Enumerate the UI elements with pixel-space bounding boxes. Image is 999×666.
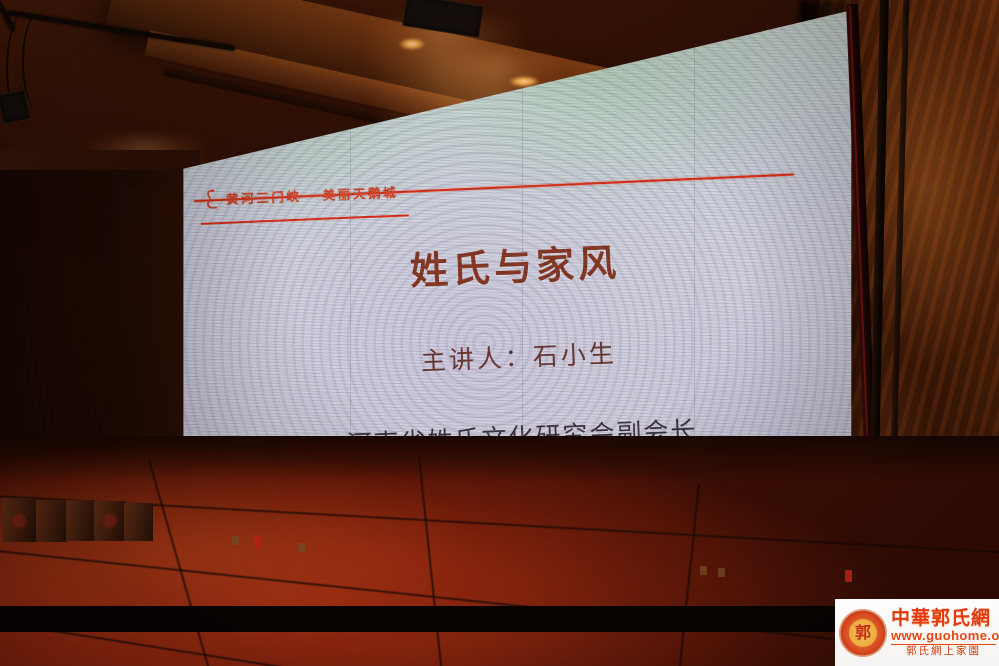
seal-character: 郭 bbox=[849, 619, 877, 647]
box-seal-mark bbox=[103, 514, 117, 528]
downlight-icon bbox=[399, 38, 425, 50]
box-seal-mark bbox=[12, 514, 26, 528]
stacked-box bbox=[36, 500, 67, 542]
watermark-text-block: 中華郭氏網 www.guohome.org 郭氏網上家園 bbox=[891, 609, 996, 656]
floor-seam bbox=[667, 484, 700, 666]
watermark-url: www.guohome.org bbox=[891, 629, 996, 643]
stacked-box bbox=[94, 501, 125, 541]
stacked-box bbox=[66, 500, 95, 541]
round-seal-icon: 郭 bbox=[839, 609, 887, 657]
stacked-box bbox=[124, 503, 153, 541]
stacked-box bbox=[2, 498, 37, 542]
stage-marker bbox=[298, 543, 305, 552]
downlight-icon bbox=[509, 76, 539, 87]
stage-marker bbox=[700, 566, 707, 575]
watermark-subtitle: 郭氏網上家園 bbox=[891, 646, 996, 657]
hanging-cable bbox=[22, 14, 54, 110]
stage-marker bbox=[232, 536, 239, 545]
watermark-title: 中華郭氏網 bbox=[891, 609, 996, 628]
stage-marker bbox=[718, 568, 725, 577]
stage-marker-red bbox=[845, 570, 852, 582]
stage-scene: 黄河三门峡 · 美丽天鹅城 姓氏与家风 主讲人：石小生 河南省姓氏文化研究会副会… bbox=[0, 0, 999, 666]
watermark-badge: 郭 中華郭氏網 www.guohome.org 郭氏網上家園 bbox=[835, 599, 999, 666]
stage-marker-red bbox=[254, 536, 261, 548]
